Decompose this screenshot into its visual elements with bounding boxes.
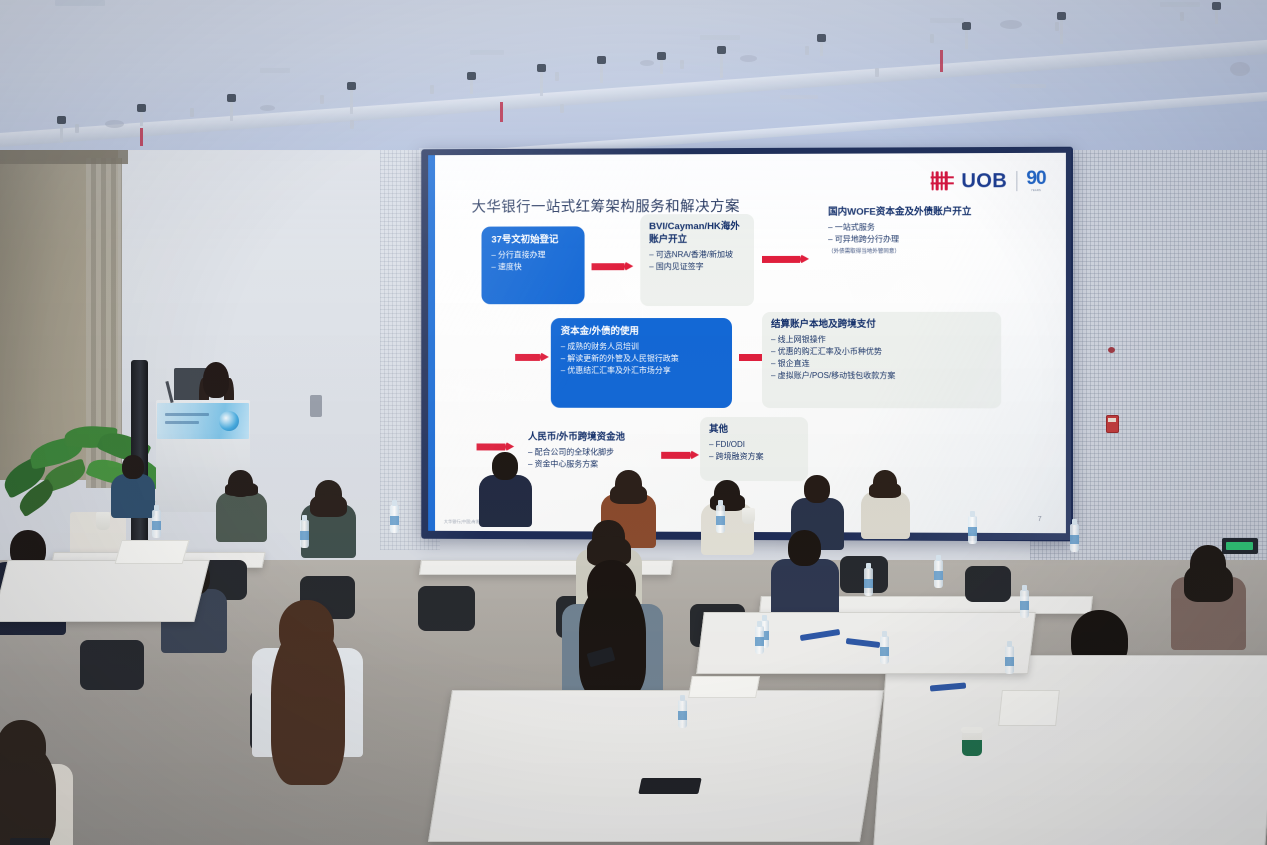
bullet: 可异地跨分行办理 bbox=[828, 233, 986, 245]
ceiling-light-stem bbox=[1215, 8, 1218, 24]
sprinkler-head-icon bbox=[805, 46, 809, 55]
box-bullets: 线上网银操作 优惠的购汇汇率及小币种优势 银企直连 虚拟账户/POS/移动钱包收… bbox=[771, 334, 992, 382]
sprinkler-head-icon bbox=[930, 34, 934, 43]
bottle-label bbox=[1020, 601, 1029, 610]
water-bottle bbox=[300, 520, 309, 548]
person-torso bbox=[861, 491, 910, 539]
uob-wordmark: UOB bbox=[961, 171, 1007, 191]
arrow-3-icon bbox=[515, 352, 549, 363]
ceiling-spotlight-icon bbox=[717, 46, 726, 54]
anniversary-number: 90 bbox=[1026, 169, 1045, 188]
audience-member bbox=[110, 455, 156, 518]
ceiling-vent bbox=[1010, 84, 1046, 88]
ceiling-light-stem bbox=[470, 78, 473, 94]
audience-member-foreground bbox=[250, 600, 366, 758]
sprinkler-head-icon bbox=[875, 68, 879, 77]
uob-hash-icon bbox=[931, 171, 952, 190]
bottle-label bbox=[1070, 535, 1079, 544]
bullet: 配合公司的全球化脚步 bbox=[528, 446, 669, 458]
sprinkler-head-icon bbox=[1180, 12, 1184, 21]
ceiling-vent bbox=[930, 18, 964, 23]
box-note: （外债需取得当地外管同意） bbox=[828, 246, 986, 254]
water-bottle bbox=[864, 568, 873, 596]
ceiling-spotlight-icon bbox=[962, 22, 971, 30]
audience-member bbox=[478, 452, 533, 527]
person-head bbox=[788, 530, 821, 566]
box-bullets: 一站式服务 可异地跨分行办理 bbox=[828, 221, 986, 245]
bottle-label bbox=[390, 516, 399, 525]
bullet: 虚拟账户/POS/移动钱包收款方案 bbox=[771, 370, 992, 382]
person-hair bbox=[0, 745, 56, 845]
person-hair bbox=[869, 482, 901, 498]
bullet: 资金中心服务方案 bbox=[528, 458, 669, 470]
bullet: 分行直接办理 bbox=[491, 249, 574, 261]
box-heading: 37号文初始登记 bbox=[491, 234, 574, 247]
ceiling-light-stem bbox=[600, 62, 603, 83]
bottle-label bbox=[678, 711, 687, 720]
ceiling-spotlight-icon bbox=[537, 64, 546, 72]
person-hair bbox=[310, 494, 346, 518]
ceiling bbox=[0, 0, 1267, 168]
box-offshore-account: BVI/Cayman/HK海外账户开立 可选NRA/香港/新加坡 国内见证签字 bbox=[640, 214, 754, 306]
box-heading: 资本金/外债的使用 bbox=[561, 326, 722, 339]
ceiling-vent bbox=[470, 50, 504, 55]
ceiling-spotlight-icon bbox=[467, 72, 476, 80]
chair bbox=[965, 566, 1011, 602]
arrow-5-icon bbox=[477, 441, 515, 452]
ceiling-light-stem bbox=[965, 28, 968, 49]
ceiling-light-stem bbox=[230, 100, 233, 121]
box-heading: 人民币/外币跨境资金池 bbox=[528, 432, 669, 445]
person-hair bbox=[610, 484, 646, 505]
table bbox=[0, 560, 210, 622]
ceiling-light-stem bbox=[60, 122, 63, 143]
ceiling-vent bbox=[1160, 2, 1200, 7]
person-hair bbox=[225, 482, 259, 495]
ceiling-downlight-icon bbox=[740, 55, 757, 62]
paper-handout bbox=[998, 690, 1060, 726]
ceiling-spotlight-icon bbox=[57, 116, 66, 124]
water-bottle bbox=[152, 510, 161, 538]
mobile-phone bbox=[10, 838, 50, 845]
person-head bbox=[804, 475, 830, 503]
water-bottle bbox=[678, 700, 687, 728]
bottle-label bbox=[968, 527, 977, 536]
ceiling-light-stem bbox=[540, 70, 543, 96]
cup-lid bbox=[961, 727, 983, 733]
coffee-cup bbox=[962, 730, 982, 756]
box-bullets: 可选NRA/香港/新加坡 国内见证签字 bbox=[649, 249, 745, 273]
bullet: 成熟的财务人员培训 bbox=[561, 341, 722, 353]
table-foreground bbox=[873, 655, 1267, 845]
audience-member-foreground bbox=[0, 720, 75, 845]
audience-member bbox=[860, 470, 911, 539]
presentation-room-photo: UOB 90 YEARS 大华银行一站式红筹架构服务和解决方案 37号文初始登记… bbox=[0, 0, 1267, 845]
sprinkler-head-icon bbox=[75, 124, 79, 133]
mobile-phone bbox=[638, 778, 701, 794]
fire-alarm-pull-station-icon[interactable] bbox=[1106, 415, 1119, 433]
ceiling-red-marker bbox=[140, 128, 143, 146]
ceiling-light-stem bbox=[1060, 18, 1063, 44]
water-bottle bbox=[390, 505, 399, 533]
box-bullets: FDI/ODI 跨境融资方案 bbox=[709, 439, 799, 463]
sprinkler-head-icon bbox=[430, 85, 434, 94]
box-heading: 结算账户本地及跨境支付 bbox=[771, 319, 992, 332]
water-bottle bbox=[716, 505, 725, 533]
ceiling-downlight-icon bbox=[1000, 20, 1022, 29]
sprinkler-head-icon bbox=[1055, 22, 1059, 31]
sprinkler-head-icon bbox=[560, 104, 564, 113]
water-bottle bbox=[755, 626, 764, 654]
ceiling-spotlight-icon bbox=[657, 52, 666, 60]
bottle-label bbox=[755, 637, 764, 646]
bottle-label bbox=[880, 647, 889, 656]
paper-handout bbox=[688, 676, 760, 698]
water-bottle bbox=[1020, 590, 1029, 618]
water-bottle bbox=[1070, 524, 1079, 552]
slide-page-number: 7 bbox=[1038, 516, 1042, 523]
ceiling-light-stem bbox=[660, 58, 663, 74]
box-bullets: 成熟的财务人员培训 解读更新的外管及人民银行政策 优惠结汇汇率及外汇市场分享 bbox=[561, 341, 722, 377]
person-hair bbox=[579, 585, 646, 699]
bullet: 可选NRA/香港/新加坡 bbox=[649, 249, 745, 261]
water-bottle bbox=[1005, 646, 1014, 674]
audience-member bbox=[215, 470, 268, 542]
box-bullets: 配合公司的全球化脚步 资金中心服务方案 bbox=[528, 446, 669, 470]
arrow-1-icon bbox=[592, 261, 634, 272]
cup-sleeve bbox=[962, 740, 982, 756]
logo-divider bbox=[1016, 171, 1017, 191]
bottle-label bbox=[1005, 657, 1014, 666]
bullet: 优惠的购汇汇率及小币种优势 bbox=[771, 346, 992, 358]
box-wofe-capital: 国内WOFE资本金及外债账户开立 一站式服务 可异地跨分行办理 （外债需取得当地… bbox=[819, 199, 995, 261]
person-hair bbox=[271, 627, 345, 785]
wall-indicator-dot-icon bbox=[1108, 347, 1115, 353]
arrow-6-icon bbox=[661, 450, 699, 461]
chair bbox=[80, 640, 144, 690]
box-settlement-payment: 结算账户本地及跨境支付 线上网银操作 优惠的购汇汇率及小币种优势 银企直连 虚拟… bbox=[762, 312, 1001, 408]
ceiling-light-stem bbox=[720, 52, 723, 78]
ceiling-vent bbox=[55, 0, 105, 6]
ceiling-vent bbox=[260, 68, 290, 73]
podium-banner bbox=[157, 403, 249, 439]
box-heading: 其他 bbox=[709, 424, 799, 437]
ceiling-spotlight-icon bbox=[1057, 12, 1066, 20]
ceiling-vent bbox=[700, 35, 740, 40]
bullet: 速度快 bbox=[491, 261, 574, 273]
ceiling-vent bbox=[780, 95, 818, 99]
ceiling-light-stem bbox=[350, 88, 353, 114]
bullet: 优惠结汇汇率及外汇市场分享 bbox=[561, 365, 722, 377]
sprinkler-head-icon bbox=[190, 108, 194, 117]
chair bbox=[418, 586, 475, 631]
ceiling-spotlight-icon bbox=[137, 104, 146, 112]
ceiling-spotlight-icon bbox=[227, 94, 236, 102]
ceiling-red-marker bbox=[500, 102, 503, 122]
water-bottle bbox=[934, 560, 943, 588]
uob-logo: UOB 90 YEARS bbox=[931, 169, 1046, 192]
partition-wall-header bbox=[0, 150, 128, 164]
box-heading: BVI/Cayman/HK海外账户开立 bbox=[649, 221, 745, 247]
ceiling-spotlight-icon bbox=[817, 34, 826, 42]
sprinkler-head-icon bbox=[555, 72, 559, 81]
table-foreground bbox=[428, 690, 884, 842]
bullet: 解读更新的外管及人民银行政策 bbox=[561, 353, 722, 365]
ceiling-light-stem bbox=[820, 40, 823, 56]
ceiling-downlight-icon bbox=[1230, 62, 1250, 76]
person-head bbox=[122, 455, 144, 479]
bottle-label bbox=[864, 579, 873, 588]
sprinkler-head-icon bbox=[680, 60, 684, 69]
ceiling-light-stem bbox=[140, 110, 143, 126]
person-torso bbox=[479, 475, 532, 527]
paper-cup bbox=[96, 512, 110, 530]
sprinkler-head-icon bbox=[320, 95, 324, 104]
box-heading: 国内WOFE资本金及外债账户开立 bbox=[828, 206, 986, 219]
sprinkler-head-icon bbox=[350, 120, 354, 129]
presenter-hair bbox=[203, 362, 229, 398]
ceiling-spotlight-icon bbox=[347, 82, 356, 90]
ceiling-downlight-icon bbox=[640, 60, 654, 66]
arrow-2-icon bbox=[762, 254, 810, 265]
audience-member bbox=[1170, 545, 1247, 650]
banner-orb-icon bbox=[219, 411, 239, 431]
ceiling-red-marker bbox=[940, 50, 943, 72]
water-bottle bbox=[880, 636, 889, 664]
person-head bbox=[492, 452, 518, 480]
box-37-wen: 37号文初始登记 分行直接办理 速度快 bbox=[481, 226, 584, 304]
person-hair bbox=[1184, 563, 1233, 602]
paper-cup bbox=[742, 508, 755, 524]
ceiling-downlight-icon bbox=[105, 120, 124, 128]
bottle-label bbox=[152, 521, 161, 530]
ceiling-downlight-icon bbox=[260, 105, 275, 111]
wall-switch-plate[interactable] bbox=[310, 395, 322, 417]
box-bullets: 分行直接办理 速度快 bbox=[491, 249, 574, 273]
person-torso bbox=[111, 474, 156, 518]
anniversary-subtext: YEARS bbox=[1026, 189, 1045, 192]
bullet: 国内见证签字 bbox=[649, 261, 745, 273]
ceiling-spotlight-icon bbox=[1212, 2, 1221, 10]
box-other: 其他 FDI/ODI 跨境融资方案 bbox=[700, 417, 808, 481]
audience-member-foreground bbox=[560, 560, 665, 703]
person-torso bbox=[216, 492, 267, 542]
bullet: 线上网银操作 bbox=[771, 334, 992, 346]
bottle-label bbox=[300, 531, 309, 540]
box-capital-use: 资本金/外债的使用 成熟的财务人员培训 解读更新的外管及人民银行政策 优惠结汇汇… bbox=[551, 318, 732, 408]
notebook bbox=[115, 540, 190, 564]
bullet: 跨境融资方案 bbox=[709, 451, 799, 463]
ceiling-spotlight-icon bbox=[597, 56, 606, 64]
bullet: 一站式服务 bbox=[828, 221, 986, 233]
bottle-label bbox=[934, 571, 943, 580]
slide-accent-bar bbox=[428, 155, 435, 531]
bottle-label bbox=[716, 516, 725, 525]
bullet: 银企直连 bbox=[771, 358, 992, 370]
anniversary-mark: 90 YEARS bbox=[1026, 169, 1045, 192]
water-bottle bbox=[968, 516, 977, 544]
bullet: FDI/ODI bbox=[709, 439, 799, 451]
